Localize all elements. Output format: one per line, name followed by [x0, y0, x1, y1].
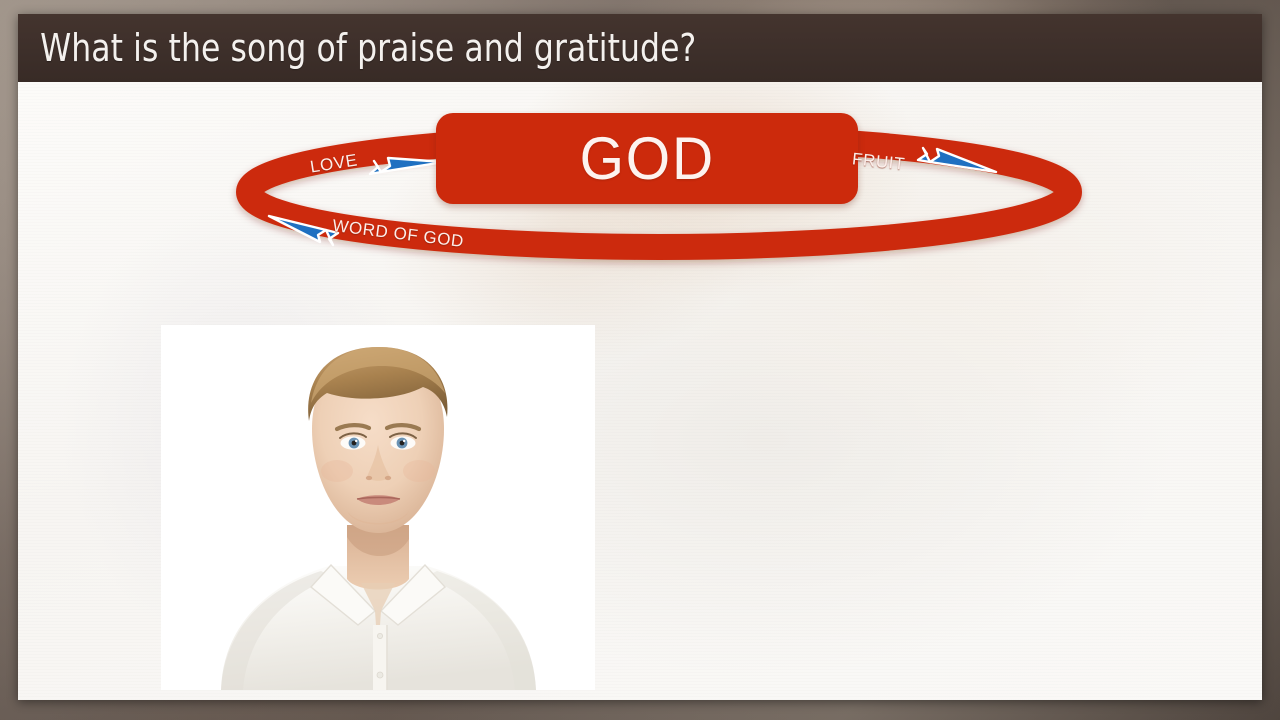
diagram-center-node: GOD [436, 113, 858, 204]
presentation-frame: What is the song of praise and gratitude… [0, 0, 1280, 720]
presenter-portrait-photo [161, 325, 595, 690]
slide-title: What is the song of praise and gratitude… [18, 26, 696, 70]
slide-canvas: What is the song of praise and gratitude… [18, 14, 1262, 700]
cycle-diagram: GOD LOVE WORD OF GOD FRUIT [18, 82, 1262, 292]
presenter-portrait-graphic [161, 325, 595, 690]
slide-title-bar: What is the song of praise and gratitude… [18, 14, 1262, 82]
diagram-center-node-label: GOD [579, 124, 715, 193]
